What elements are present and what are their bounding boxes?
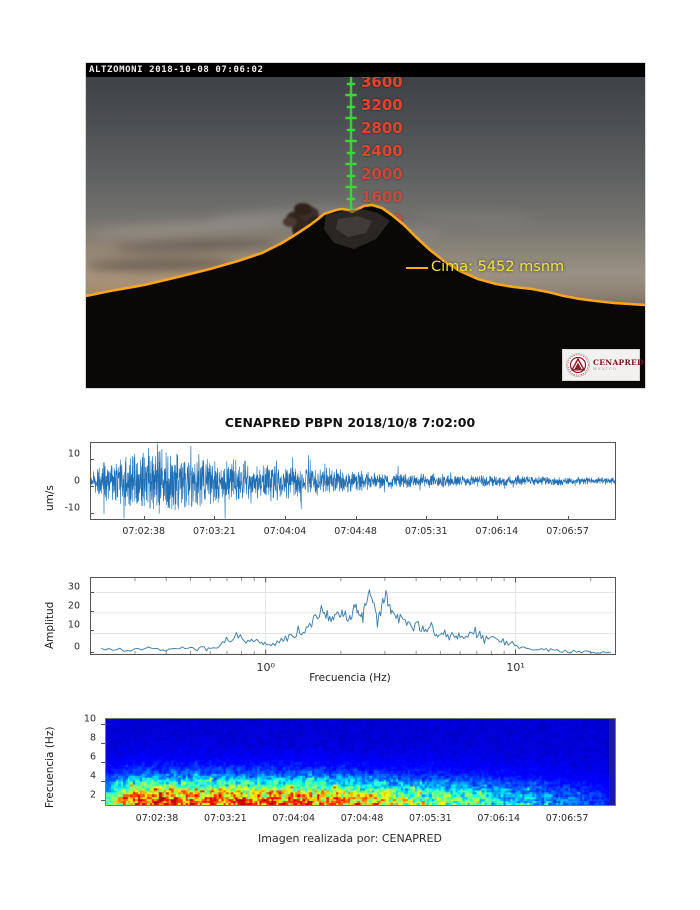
seismogram-xtick: 07:06:57 [546,526,589,537]
spectrum-ytickmark [90,630,94,631]
spectrum-xlabel: Frecuencia (Hz) [0,672,700,684]
seismogram-xtick: 07:04:48 [334,526,377,537]
spectrum-ytick: 0 [58,642,80,653]
seismogram-xtick: 07:06:14 [476,526,519,537]
seismogram-trace [91,443,615,519]
spectrogram-xtick: 07:04:04 [272,813,315,824]
spectrogram-ytick: 8 [72,733,96,744]
spectrogram-ytick: 4 [72,771,96,782]
seismogram-xtickmark [144,516,145,520]
seismogram-xtickmark [356,516,357,520]
seismogram-ytick: 10 [58,449,80,460]
spectrogram-ytick: 6 [72,752,96,763]
seismogram-xtick: 07:02:38 [122,526,165,537]
spectrum-plot-area [90,577,616,655]
spectrum-ytick: 20 [58,601,80,612]
cenapred-logo-text: CENAPRED MEXICO [593,359,644,372]
spectrum-ytickmark [90,652,94,653]
spectrogram-ytickmark [101,762,105,763]
photo-timestamp: ALTZOMONI 2018-10-08 07:06:02 [89,63,264,77]
timestamp-bar: ALTZOMONI 2018-10-08 07:06:02 [86,63,645,77]
seismogram-xtickmark [285,516,286,520]
seismogram-xtickmark [214,516,215,520]
seismogram-ytickmark [90,513,94,514]
seismogram-panel: CENAPRED PBPN 2018/10/8 7:02:00 um/s 10 … [0,415,700,555]
spectrum-curve [91,578,615,654]
cima-leader-line [406,267,428,269]
seismogram-title: CENAPRED PBPN 2018/10/8 7:02:00 [0,415,700,430]
spectrogram-xtick: 07:02:38 [136,813,179,824]
spectrogram-ylabel: Frecuencia (Hz) [44,727,56,808]
spectrogram-xtick: 07:03:21 [204,813,247,824]
spectrum-ylabel: Amplitud [44,602,56,649]
seismogram-ytickmark [90,486,94,487]
spectrogram-ytickmark [101,724,105,725]
cenapred-logo-subtitle: MEXICO [593,368,644,372]
spectrogram-xtick: 07:05:31 [409,813,452,824]
spectrum-ytick: 30 [58,582,80,593]
spectrogram-panel: Frecuencia (Hz) 10 8 6 4 2 07:02:3807:03… [0,705,700,865]
spectrogram-ytickmark [101,800,105,801]
cenapred-logo-name: CENAPRED [593,359,644,367]
seismogram-xtickmark [497,516,498,520]
seismogram-xtickmark [426,516,427,520]
spectrogram-xtick: 07:06:14 [477,813,520,824]
spectrum-ytickmark [90,592,94,593]
cenapred-seal-icon [566,353,590,377]
seismogram-plot-area [90,442,616,520]
cenapred-logo: CENAPRED MEXICO [562,349,640,381]
spectrogram-xtick: 07:06:57 [546,813,589,824]
seismogram-ytick: -10 [54,503,80,514]
volcano-webcam-photo: 3600 3200 2800 2400 2000 1600 1200 800 4… [85,62,646,389]
spectrogram-ytick: 2 [72,790,96,801]
volcano-silhouette [86,63,645,388]
seismogram-xtick: 07:03:21 [193,526,236,537]
footer-caption: Imagen realizada por: CENAPRED [0,832,700,845]
seismogram-xtickmark [568,516,569,520]
seismogram-ytickmark [90,459,94,460]
cenapred-volcano-report: 3600 3200 2800 2400 2000 1600 1200 800 4… [0,0,700,910]
spectrogram-ytick: 10 [72,714,96,725]
spectrogram-xtick: 07:04:48 [341,813,384,824]
seismogram-xtick: 07:05:31 [405,526,448,537]
spectrogram-plot-area [105,718,616,806]
seismogram-ytick: 0 [58,476,80,487]
spectrogram-heatmap [106,719,615,805]
spectrogram-ytickmark [101,781,105,782]
spectrum-panel: Amplitud 30 20 10 0 10⁰10¹ Frecuencia (H… [0,565,700,700]
seismogram-xtick: 07:04:04 [264,526,307,537]
spectrum-ytick: 10 [58,620,80,631]
spectrum-ytickmark [90,611,94,612]
summit-altitude-label: Cima: 5452 msnm [431,259,564,275]
spectrogram-ytickmark [101,743,105,744]
